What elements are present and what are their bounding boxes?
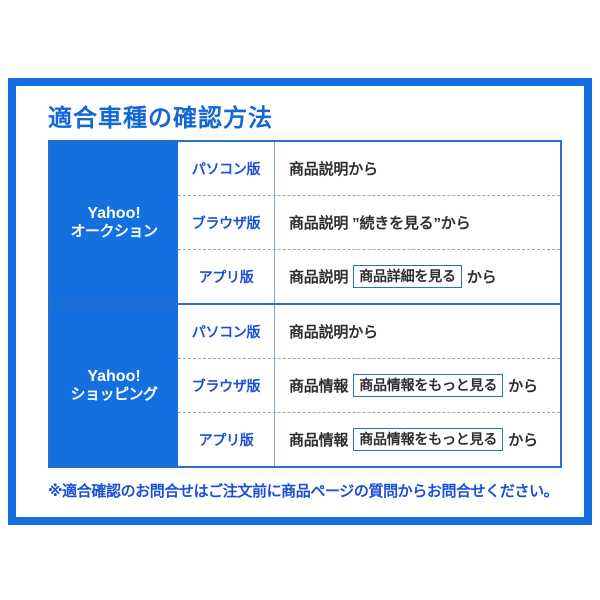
device-label: アプリ版 [178, 413, 275, 466]
section-rows: パソコン版 商品説明から ブラウザ版 商品説明 ”続きを見る”から [178, 142, 560, 303]
table-section-auction: Yahoo! オークション パソコン版 商品説明から ブラウザ版 [50, 142, 560, 303]
description-text-before: 商品情報 [289, 429, 348, 450]
compatibility-table: Yahoo! オークション パソコン版 商品説明から ブラウザ版 [48, 140, 562, 468]
table-row: ブラウザ版 商品説明 ”続きを見る”から [178, 195, 560, 249]
table-row: パソコン版 商品説明から [178, 305, 560, 358]
page-title: 適合車種の確認方法 [48, 106, 564, 132]
table-row: パソコン版 商品説明から [178, 142, 560, 195]
section-body: Yahoo! オークション パソコン版 商品説明から ブラウザ版 [50, 142, 560, 303]
info-banner: 適合車種の確認方法 Yahoo! オークション パソコン版 商品説明から [8, 78, 592, 525]
description-text-after: から [508, 429, 538, 450]
device-label: アプリ版 [178, 250, 275, 303]
description-text-before: 商品説明から [289, 321, 378, 342]
description-text-before: 商品説明から [289, 158, 378, 179]
ui-button-chip[interactable]: 商品情報をもっと見る [353, 374, 503, 397]
description-text-before: 商品情報 [289, 375, 348, 396]
description-cell: 商品情報 商品情報をもっと見る から [275, 374, 560, 397]
device-label: パソコン版 [178, 142, 275, 195]
device-label: ブラウザ版 [178, 196, 275, 249]
description-cell: 商品説明 商品詳細を見る から [275, 265, 560, 288]
description-cell: 商品説明から [275, 321, 560, 342]
section-label-shopping: Yahoo! ショッピング [50, 305, 178, 466]
device-label: ブラウザ版 [178, 359, 275, 412]
section-rows: パソコン版 商品説明から ブラウザ版 商品情報 商品情報をもっと見る から [178, 305, 560, 466]
service-label: ショッピング [70, 386, 157, 403]
description-cell: 商品説明 ”続きを見る”から [275, 212, 560, 233]
table-row: ブラウザ版 商品情報 商品情報をもっと見る から [178, 358, 560, 412]
service-label: オークション [70, 223, 157, 240]
description-text-after: から [508, 375, 538, 396]
brand-label: Yahoo! [87, 205, 140, 223]
table-row: アプリ版 商品情報 商品情報をもっと見る から [178, 412, 560, 466]
device-label: パソコン版 [178, 305, 275, 358]
brand-label: Yahoo! [87, 368, 140, 386]
ui-button-chip[interactable]: 商品詳細を見る [353, 265, 462, 288]
description-cell: 商品情報 商品情報をもっと見る から [275, 428, 560, 451]
description-text-before: 商品説明 [289, 266, 348, 287]
section-label-auction: Yahoo! オークション [50, 142, 178, 303]
table-row: アプリ版 商品説明 商品詳細を見る から [178, 249, 560, 303]
description-text-after: から [467, 266, 497, 287]
description-cell: 商品説明から [275, 158, 560, 179]
description-text-before: 商品説明 ”続きを見る”から [289, 212, 470, 233]
footnote-text: ※適合確認のお問合せはご注文前に商品ページの質問からお問合せください。 [48, 480, 564, 501]
banner-inner-panel: 適合車種の確認方法 Yahoo! オークション パソコン版 商品説明から [16, 86, 584, 517]
ui-button-chip[interactable]: 商品情報をもっと見る [353, 428, 503, 451]
table-section-shopping: Yahoo! ショッピング パソコン版 商品説明から ブラウザ版 [50, 303, 560, 466]
section-body: Yahoo! ショッピング パソコン版 商品説明から ブラウザ版 [50, 305, 560, 466]
